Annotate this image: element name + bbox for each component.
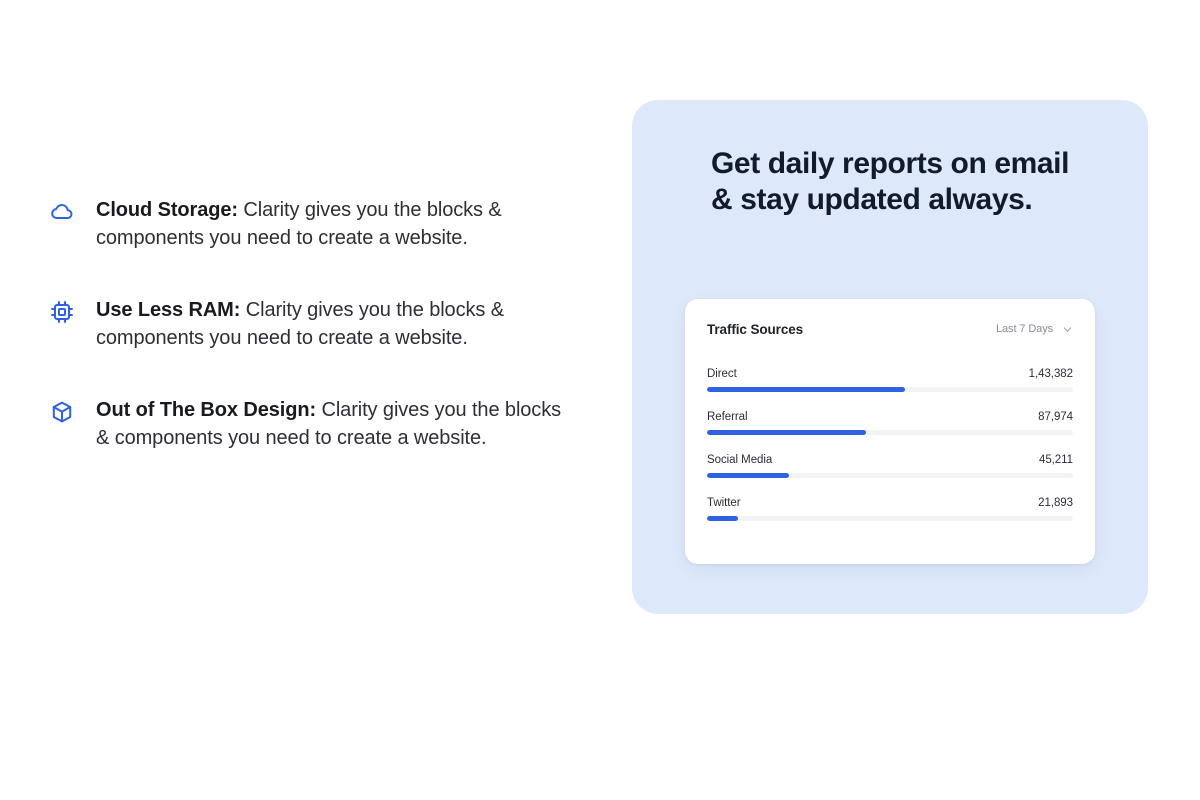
traffic-row-meta: Referral 87,974 <box>707 411 1073 423</box>
feature-item-out-of-the-box-design: Out of The Box Design: Clarity gives you… <box>50 396 580 452</box>
traffic-card-header: Traffic Sources Last 7 Days <box>707 317 1073 341</box>
traffic-bar-track <box>707 387 1073 392</box>
traffic-source-value: 21,893 <box>1038 497 1073 509</box>
date-range-dropdown[interactable]: Last 7 Days <box>996 323 1073 335</box>
traffic-bar-fill <box>707 430 866 435</box>
traffic-source-value: 45,211 <box>1039 454 1073 466</box>
traffic-bar-track <box>707 473 1073 478</box>
traffic-sources-card: Traffic Sources Last 7 Days Direct 1,43,… <box>685 299 1095 564</box>
traffic-bar-fill <box>707 473 789 478</box>
traffic-source-name: Twitter <box>707 497 741 509</box>
feature-text-cloud-storage: Cloud Storage: Clarity gives you the blo… <box>96 196 576 252</box>
feature-lead: Out of The Box Design: <box>96 399 316 421</box>
feature-item-use-less-ram: Use Less RAM: Clarity gives you the bloc… <box>50 296 580 352</box>
traffic-row-social-media: Social Media 45,211 <box>707 454 1073 478</box>
traffic-row-direct: Direct 1,43,382 <box>707 368 1073 392</box>
promo-title: Get daily reports on email & stay update… <box>711 146 1081 218</box>
feature-lead: Cloud Storage: <box>96 199 238 221</box>
traffic-bar-track <box>707 430 1073 435</box>
feature-list: Cloud Storage: Clarity gives you the blo… <box>50 196 580 452</box>
traffic-bar-fill <box>707 387 905 392</box>
traffic-source-name: Social Media <box>707 454 772 466</box>
feature-text-out-of-the-box-design: Out of The Box Design: Clarity gives you… <box>96 396 576 452</box>
traffic-source-value: 1,43,382 <box>1029 368 1073 380</box>
traffic-source-name: Direct <box>707 368 737 380</box>
cpu-chip-icon <box>50 300 74 324</box>
traffic-row-twitter: Twitter 21,893 <box>707 497 1073 521</box>
traffic-bar-track <box>707 516 1073 521</box>
promo-panel: Get daily reports on email & stay update… <box>632 100 1148 614</box>
traffic-card-title: Traffic Sources <box>707 322 803 337</box>
page-root: Cloud Storage: Clarity gives you the blo… <box>0 0 1200 800</box>
date-range-label: Last 7 Days <box>996 323 1053 335</box>
traffic-source-name: Referral <box>707 411 748 423</box>
feature-item-cloud-storage: Cloud Storage: Clarity gives you the blo… <box>50 196 580 252</box>
traffic-row-referral: Referral 87,974 <box>707 411 1073 435</box>
chevron-down-icon[interactable] <box>1062 324 1073 335</box>
traffic-source-value: 87,974 <box>1038 411 1073 423</box>
traffic-bar-fill <box>707 516 738 521</box>
cloud-icon <box>50 200 74 224</box>
box-3d-icon <box>50 400 74 424</box>
feature-text-use-less-ram: Use Less RAM: Clarity gives you the bloc… <box>96 296 576 352</box>
feature-lead: Use Less RAM: <box>96 299 240 321</box>
traffic-row-meta: Direct 1,43,382 <box>707 368 1073 380</box>
traffic-row-meta: Twitter 21,893 <box>707 497 1073 509</box>
traffic-row-meta: Social Media 45,211 <box>707 454 1073 466</box>
